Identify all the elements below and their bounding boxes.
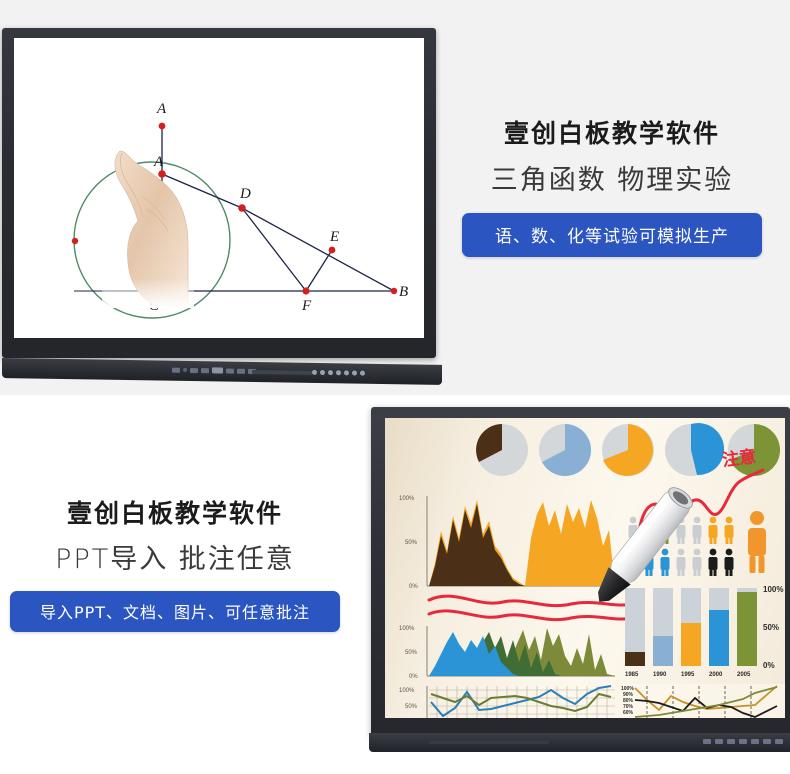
bar-axis-0: 0% xyxy=(763,661,775,670)
device-indicator-dots-1 xyxy=(312,370,365,376)
label-a-top: A xyxy=(156,101,167,117)
pie-chart-1 xyxy=(476,424,528,476)
label-e: E xyxy=(329,229,339,245)
control-button[interactable] xyxy=(237,368,245,373)
subheading-top: 三角函数 物理实验 xyxy=(462,166,762,196)
point-b[interactable] xyxy=(391,288,397,294)
dashed-grid-line-chart: 100% 90% 80% 70% 60% xyxy=(621,684,785,718)
control-button[interactable] xyxy=(775,739,783,744)
control-button[interactable] xyxy=(727,739,735,744)
feature-badge-bottom: 导入PPT、文档、图片、可任意批注 xyxy=(10,591,340,632)
feature-badge-top: 语、数、化等试验可模拟生产 xyxy=(462,213,762,257)
point-f[interactable] xyxy=(302,287,309,294)
geometry-circle xyxy=(74,162,230,318)
stylus-pen[interactable] xyxy=(585,473,705,618)
section-bottom: 壹创白板教学软件 PPT导入 批注任意 导入PPT、文档、图片、可任意批注 xyxy=(0,395,790,774)
control-button[interactable] xyxy=(739,739,747,744)
segment-f-e xyxy=(306,250,332,291)
axis-label-50: 50% xyxy=(405,540,418,546)
whiteboard-screen-1[interactable]: A A D E B F C xyxy=(14,38,424,338)
grid-line-chart: 100% 50% xyxy=(399,686,615,718)
whiteboard-screen-2[interactable]: 注意 100% 50% 0% xyxy=(385,418,785,718)
indicator-dot xyxy=(336,370,341,375)
product-page: A A D E B F C xyxy=(0,0,790,774)
segment-d-b xyxy=(242,208,394,291)
bar-1990 xyxy=(653,636,673,666)
device-logo-strip-1 xyxy=(252,370,312,375)
axis-label-100: 100% xyxy=(399,496,415,502)
interactive-whiteboard-device-1: A A D E B F C xyxy=(2,28,436,376)
control-button[interactable] xyxy=(172,367,180,372)
interactive-whiteboard-device-2: 注意 100% 50% 0% xyxy=(371,407,790,762)
axis-label-0: 0% xyxy=(409,674,418,680)
bar-axis-100: 100% xyxy=(763,585,783,594)
dash-axis-60: 60% xyxy=(623,710,634,716)
indicator-dot xyxy=(320,370,325,375)
point-e[interactable] xyxy=(329,247,336,254)
axis-label-100: 100% xyxy=(399,688,415,694)
segment-a-d xyxy=(162,174,242,208)
bar-label-2005: 2005 xyxy=(737,672,751,678)
label-c: C xyxy=(149,298,160,314)
bar-2005 xyxy=(737,592,757,666)
bar-2000 xyxy=(709,610,729,666)
bar-label-1990: 1990 xyxy=(653,672,667,678)
indicator-dot xyxy=(312,370,317,375)
bar-1985 xyxy=(625,652,645,666)
device-bottom-bezel-2 xyxy=(369,733,790,752)
annotation-text: 注意 xyxy=(721,446,757,470)
pie-chart-3 xyxy=(602,424,654,476)
headline-block-bottom: 壹创白板教学软件 PPT导入 批注任意 导入PPT、文档、图片、可任意批注 xyxy=(10,500,340,632)
axis-label-50: 50% xyxy=(405,650,418,656)
pictogram-highlight-figure xyxy=(748,511,766,573)
control-button[interactable] xyxy=(201,368,209,373)
heading-top: 壹创白板教学软件 xyxy=(462,120,762,148)
point-a[interactable] xyxy=(158,170,166,178)
bar-axis-50: 50% xyxy=(763,623,779,632)
control-button[interactable] xyxy=(703,739,711,744)
heading-bottom: 壹创白板教学软件 xyxy=(10,500,340,528)
device-control-buttons-2[interactable] xyxy=(703,739,783,744)
indicator-dot xyxy=(352,370,357,375)
control-button[interactable] xyxy=(183,368,187,372)
bar-1995 xyxy=(681,623,701,666)
segment-d-f xyxy=(242,208,306,291)
device-logo-strip-2 xyxy=(429,741,549,744)
label-d: D xyxy=(239,186,251,202)
label-f: F xyxy=(301,298,312,314)
point-a-top[interactable] xyxy=(159,123,166,130)
area-series-brown xyxy=(429,504,525,586)
control-button[interactable] xyxy=(212,367,223,373)
bar-label-2000: 2000 xyxy=(709,672,723,678)
device-control-buttons-1[interactable] xyxy=(172,367,256,374)
point-d[interactable] xyxy=(238,204,246,212)
control-button[interactable] xyxy=(715,739,723,744)
control-button[interactable] xyxy=(226,368,234,373)
headline-block-top: 壹创白板教学软件 三角函数 物理实验 语、数、化等试验可模拟生产 xyxy=(462,120,762,257)
pie-chart-4 xyxy=(665,423,724,476)
pie-chart-2 xyxy=(539,424,591,476)
bar-label-1985: 1985 xyxy=(625,672,639,678)
indicator-dot xyxy=(344,370,349,375)
axis-label-0: 0% xyxy=(409,584,418,590)
indicator-dot xyxy=(360,371,365,376)
control-button[interactable] xyxy=(763,739,771,744)
bar-label-1995: 1995 xyxy=(681,672,695,678)
control-button[interactable] xyxy=(751,739,759,744)
area-chart-2: 100% 50% 0% xyxy=(399,626,615,680)
section-top: A A D E B F C xyxy=(0,0,790,395)
point-circle-left[interactable] xyxy=(72,238,78,244)
area-chart-1: 100% 50% 0% xyxy=(399,496,615,590)
label-b: B xyxy=(399,284,408,300)
axis-label-50: 50% xyxy=(405,704,418,710)
control-button[interactable] xyxy=(190,367,198,372)
device-bottom-bezel-1 xyxy=(2,358,442,385)
label-a: A xyxy=(153,154,164,170)
subheading-bottom: PPT导入 批注任意 xyxy=(10,545,340,575)
axis-label-100: 100% xyxy=(399,626,415,632)
indicator-dot xyxy=(328,370,333,375)
geometry-diagram[interactable]: A A D E B F C xyxy=(14,38,424,338)
